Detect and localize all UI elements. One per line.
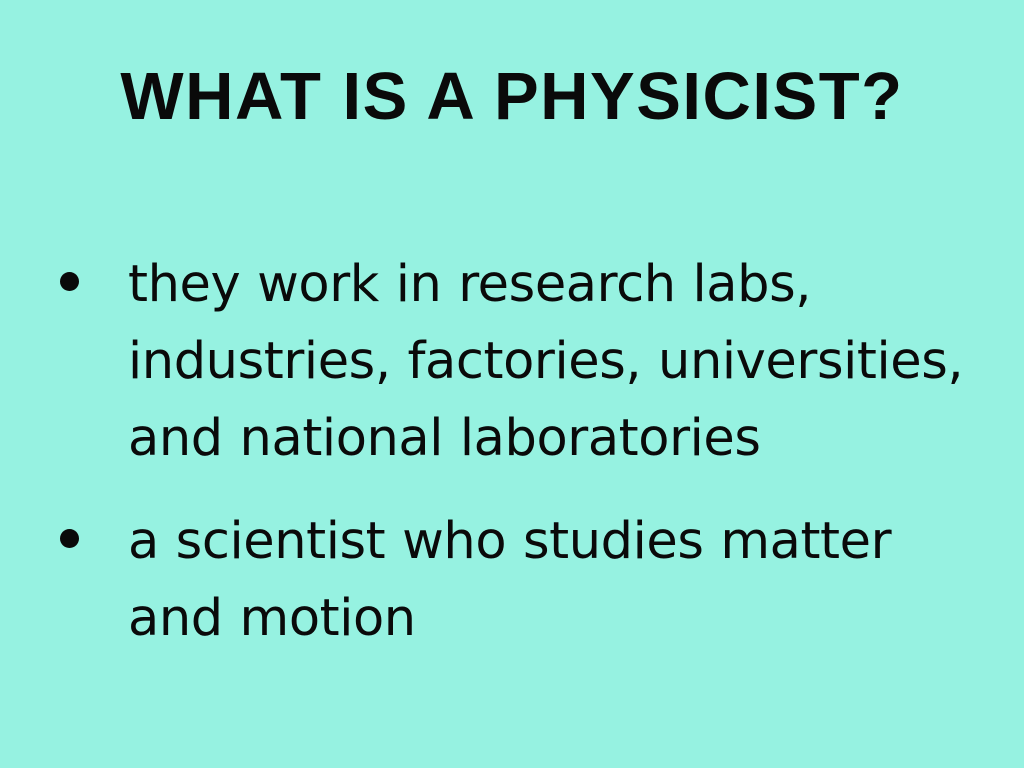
list-item-label: they work in research labs, industries, …: [128, 246, 984, 477]
bullet-dot-icon: [60, 529, 79, 548]
slide-canvas: WHAT IS A PHYSICIST? they work in resear…: [0, 0, 1024, 768]
page-title: WHAT IS A PHYSICIST?: [0, 59, 1024, 134]
bullet-list: they work in research labs, industries, …: [54, 246, 984, 657]
bullet-dot-icon: [60, 272, 79, 291]
list-item: they work in research labs, industries, …: [54, 246, 984, 477]
list-item-label: a scientist who studies matter and motio…: [128, 503, 984, 657]
list-item: a scientist who studies matter and motio…: [54, 503, 984, 657]
